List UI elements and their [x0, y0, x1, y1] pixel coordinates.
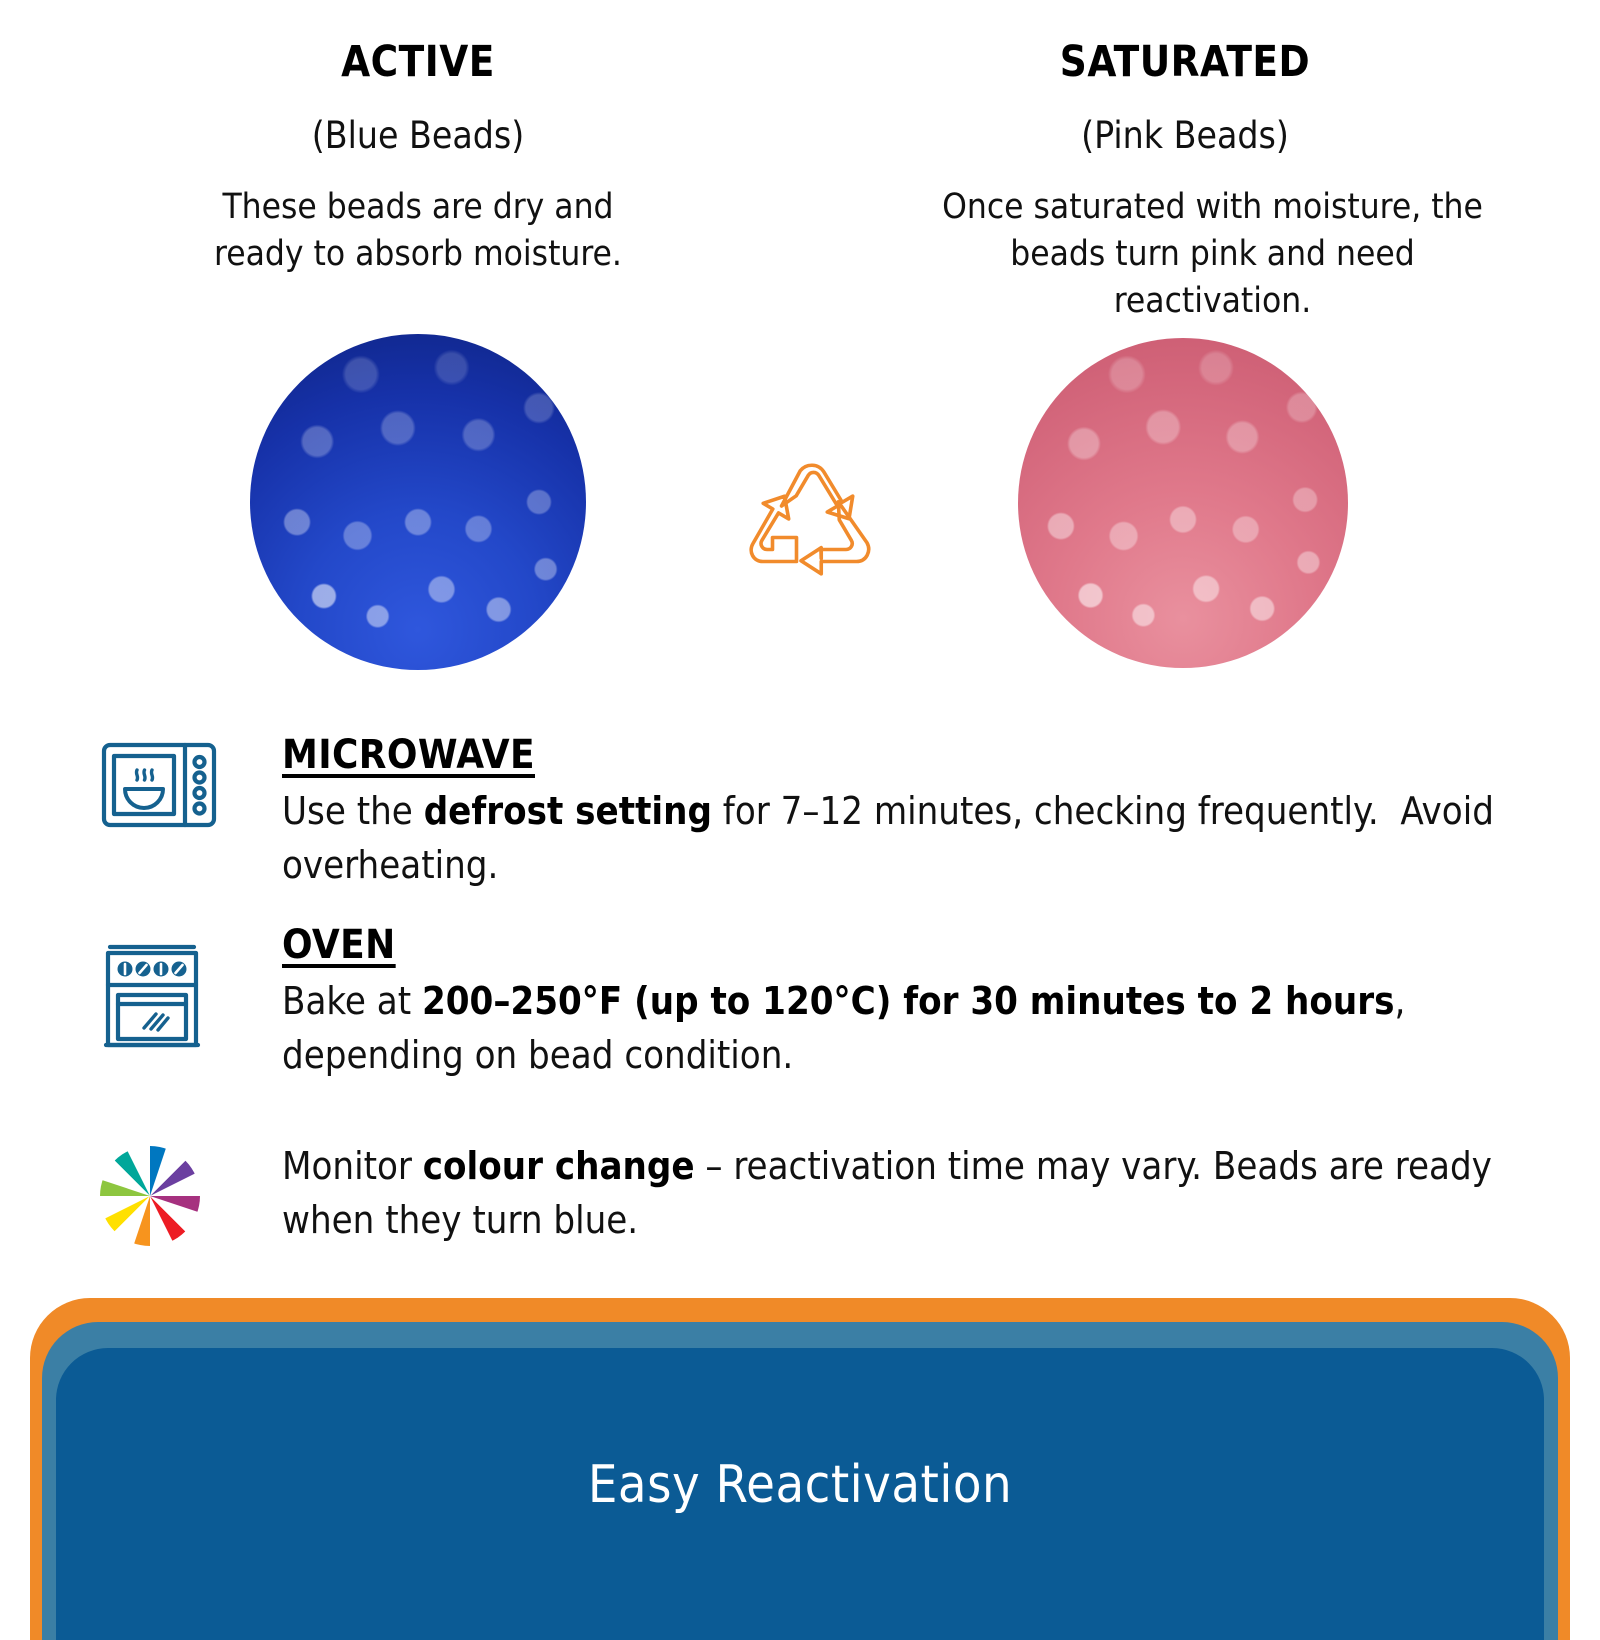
- colour-change-text: Monitor colour change – reactivation tim…: [282, 1140, 1520, 1248]
- infographic-canvas: ACTIVE (Blue Beads) These beads are dry …: [0, 0, 1600, 1600]
- oven-body: OVEN Bake at 200–250°F (up to 120°C) for…: [220, 925, 1520, 1083]
- saturated-title: SATURATED: [933, 40, 1437, 85]
- oven-text-bold: 200–250°F (up to 120°C) for 30 minutes t…: [422, 979, 1394, 1023]
- saturated-description: Once saturated with moisture, the beads …: [925, 184, 1500, 326]
- comparison-column-active: ACTIVE (Blue Beads) These beads are dry …: [158, 40, 678, 278]
- blue-beads-photo: [250, 334, 586, 670]
- pink-beads-photo: [1018, 338, 1348, 668]
- microwave-heading: MICROWAVE: [282, 735, 535, 775]
- active-description: These beads are dry and ready to absorb …: [208, 184, 628, 279]
- saturated-subtitle: (Pink Beads): [925, 117, 1445, 156]
- active-subtitle: (Blue Beads): [158, 117, 678, 156]
- colour-wheel: [100, 1146, 200, 1246]
- recycle-icon: [735, 455, 885, 605]
- oven-text-before: Bake at: [282, 979, 422, 1023]
- microwave-text: Use the defrost setting for 7–12 minutes…: [282, 785, 1520, 893]
- microwave-icon: [100, 735, 220, 831]
- colour-wheel-icon: [100, 1140, 220, 1246]
- microwave-text-before: Use the: [282, 789, 424, 833]
- comparison-column-saturated: SATURATED (Pink Beads) Once saturated wi…: [925, 40, 1445, 326]
- microwave-body: MICROWAVE Use the defrost setting for 7–…: [220, 735, 1520, 893]
- oven-heading: OVEN: [282, 925, 396, 965]
- microwave-text-bold: defrost setting: [424, 789, 712, 833]
- oven-text: Bake at 200–250°F (up to 120°C) for 30 m…: [282, 975, 1520, 1083]
- banner-label: Easy Reactivation: [0, 1455, 1600, 1515]
- instruction-row-oven: OVEN Bake at 200–250°F (up to 120°C) for…: [100, 925, 1520, 1083]
- colour-change-text-before: Monitor: [282, 1144, 423, 1188]
- instruction-row-microwave: MICROWAVE Use the defrost setting for 7–…: [100, 735, 1520, 893]
- instruction-row-colour-change: Monitor colour change – reactivation tim…: [100, 1140, 1520, 1248]
- oven-icon: [100, 925, 220, 1051]
- active-title: ACTIVE: [166, 40, 670, 85]
- colour-change-text-bold: colour change: [423, 1144, 695, 1188]
- colour-change-body: Monitor colour change – reactivation tim…: [220, 1140, 1520, 1248]
